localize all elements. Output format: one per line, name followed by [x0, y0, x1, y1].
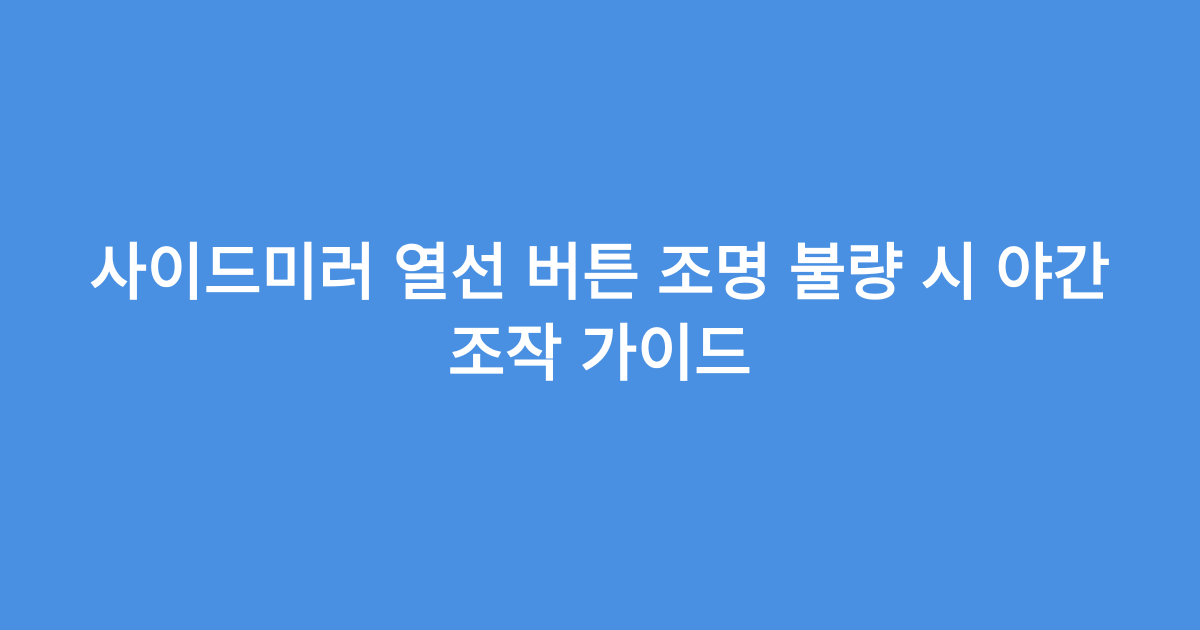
share-card: 사이드미러 열선 버튼 조명 불량 시 야간 조작 가이드	[0, 0, 1200, 630]
page-title: 사이드미러 열선 버튼 조명 불량 시 야간 조작 가이드	[60, 234, 1140, 395]
title-block: 사이드미러 열선 버튼 조명 불량 시 야간 조작 가이드	[60, 234, 1140, 395]
